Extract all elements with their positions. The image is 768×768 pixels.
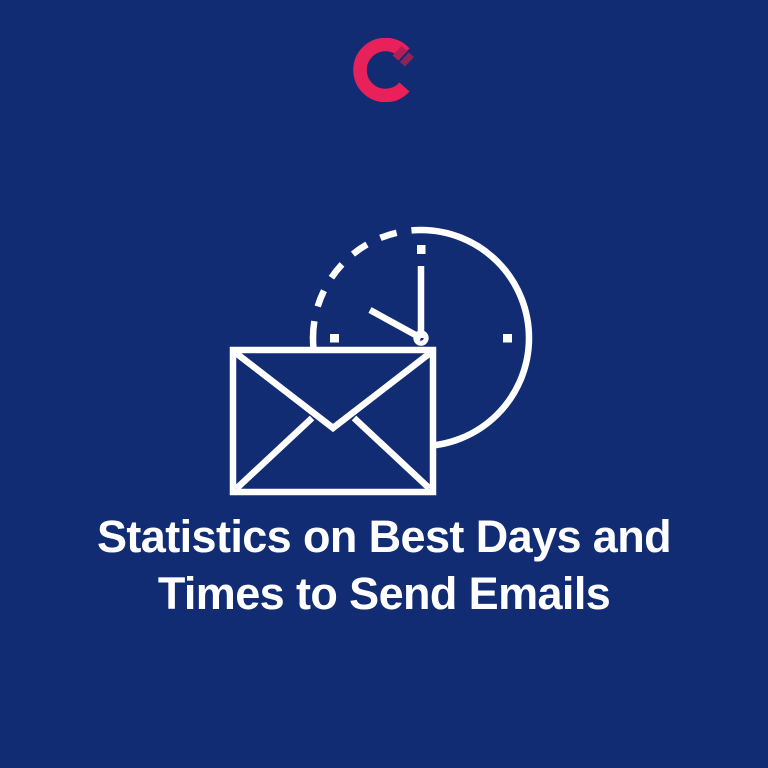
clock-tick-9 (330, 334, 339, 343)
email-clock-illustration (0, 0, 768, 520)
clock-tick-12 (417, 245, 426, 254)
poster-title: Statistics on Best Days and Times to Sen… (64, 508, 704, 622)
poster-title-line-2: Times to Send Emails (64, 565, 704, 622)
clock-hour-hand (370, 310, 421, 338)
envelope-icon (233, 350, 433, 492)
clock-dial-dashed-arc (313, 230, 421, 338)
poster-title-line-1: Statistics on Best Days and (64, 508, 704, 565)
poster-canvas: Statistics on Best Days and Times to Sen… (0, 0, 768, 768)
clock-tick-3 (503, 334, 512, 343)
